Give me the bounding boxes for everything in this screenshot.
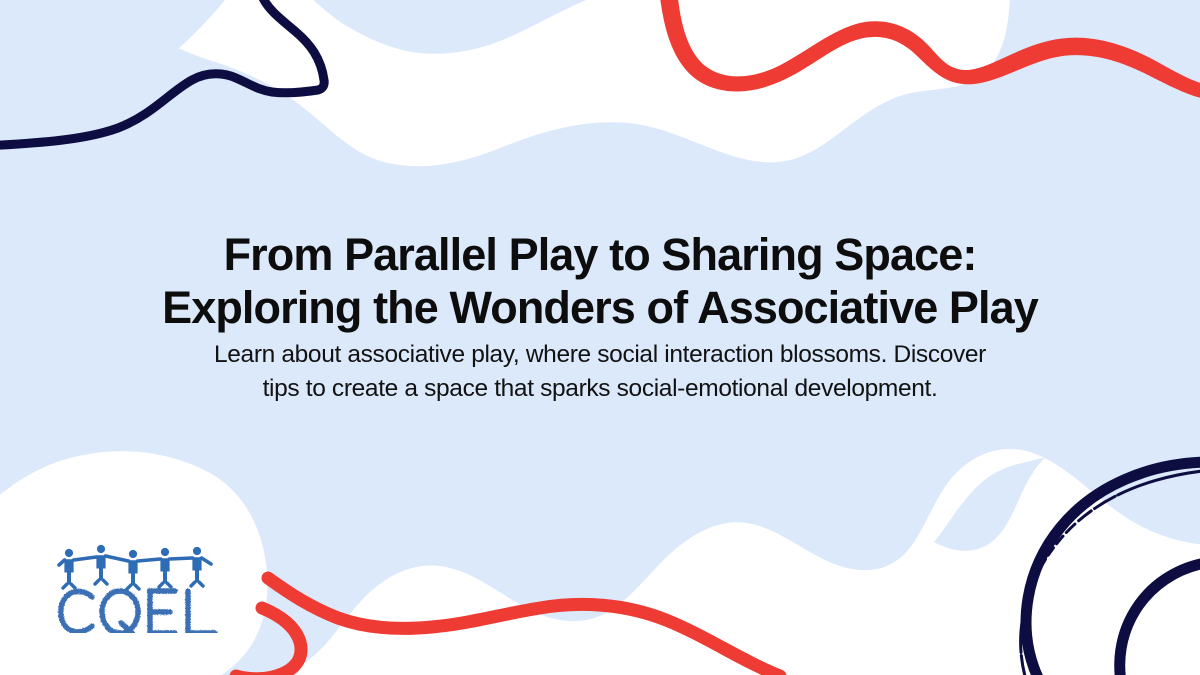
cqel-logo-icon — [55, 541, 230, 633]
cqel-logo[interactable]: CQEL — [55, 541, 230, 633]
logo-children-group — [59, 545, 211, 589]
page-title: From Parallel Play to Sharing Space: Exp… — [0, 228, 1200, 334]
banner-content: From Parallel Play to Sharing Space: Exp… — [0, 0, 1200, 675]
banner-card: From Parallel Play to Sharing Space: Exp… — [0, 0, 1200, 675]
subhead-line-2: tips to create a space that sparks socia… — [140, 372, 1060, 406]
page-subtitle: Learn about associative play, where soci… — [0, 338, 1200, 406]
headline-line-1: From Parallel Play to Sharing Space: — [60, 228, 1140, 281]
subhead-line-1: Learn about associative play, where soci… — [140, 338, 1060, 372]
headline-line-2: Exploring the Wonders of Associative Pla… — [60, 281, 1140, 334]
logo-wordmark — [61, 591, 215, 633]
